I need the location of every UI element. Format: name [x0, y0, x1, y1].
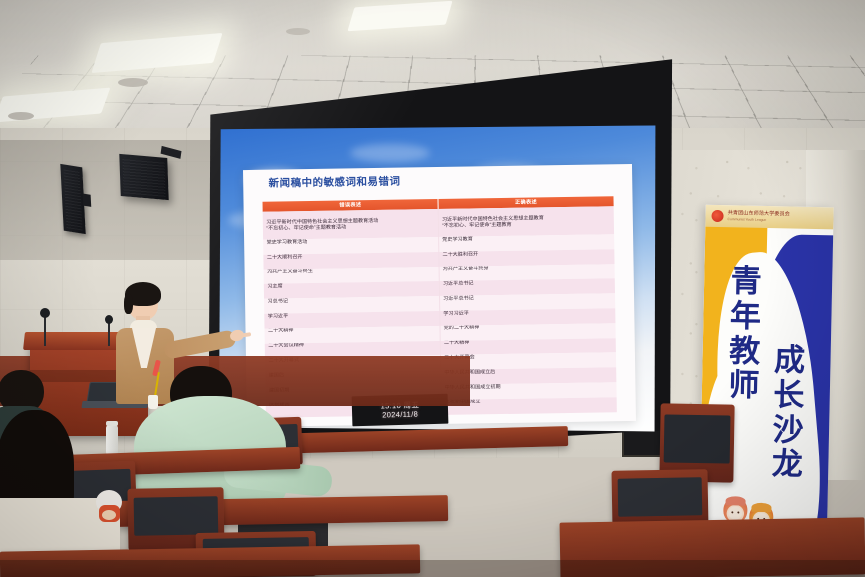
presenter-hair-side	[124, 294, 133, 314]
banner-char: 长	[773, 381, 805, 411]
slide-title: 新闻稿中的敏感词和易错词	[269, 173, 401, 190]
rollup-banner: 共青团山东师范大学委员会 Communist Youth League 青 年 …	[698, 205, 834, 568]
presenter-pointing-arm	[163, 329, 237, 359]
banner-char: 年	[730, 302, 762, 332]
mascot-face	[728, 506, 742, 519]
banner-char: 成	[774, 346, 806, 376]
clock-date: 2024/11/8	[382, 410, 418, 419]
ceiling-vent	[286, 28, 310, 35]
cell-correct: 习近平新时代中国特色社会主义思想主题教育 “不忘初心、牢记使命”主题教育	[439, 207, 614, 238]
mascot-eye	[737, 511, 739, 513]
banner-logo-subtext: Communist Youth League	[727, 217, 766, 222]
microphone-stand	[44, 316, 46, 346]
plush-toy	[96, 490, 122, 520]
banner-title-column-1: 青 年 教 师	[722, 267, 769, 402]
cell-wrong: 习近平新时代中国特色社会主义思想主题教育活动 “不忘初心、牢记使命”主题教育活动	[263, 209, 439, 240]
foreground-shadow	[0, 560, 865, 577]
mascot-hair	[725, 496, 745, 505]
banner-char: 龙	[772, 450, 804, 480]
banner-title-column-2: 成 长 沙 龙	[764, 346, 813, 481]
speaker-grille	[63, 167, 82, 230]
ceiling-vent	[8, 112, 34, 120]
wall-speaker-left	[60, 164, 85, 234]
ceiling-vent	[118, 78, 148, 87]
chair-seat	[617, 478, 702, 517]
cloud	[350, 144, 430, 162]
mascot-hair	[751, 503, 771, 512]
speaker-grille	[122, 157, 165, 197]
speaker-mount	[83, 194, 92, 207]
cell-line: “不忘初心、牢记使命”主题教育	[442, 221, 614, 229]
wall-speaker-right	[119, 154, 168, 200]
paper-cup	[148, 395, 158, 409]
toy-face	[102, 510, 116, 520]
microphone-head	[40, 308, 50, 318]
mascot-eye	[731, 511, 733, 513]
cell-line: “不忘初心、牢记使命”主题教育活动	[267, 224, 439, 232]
chair-seat	[664, 414, 730, 463]
left-wall-shadow	[0, 140, 215, 260]
banner-char: 青	[730, 267, 762, 297]
banner-char: 沙	[772, 416, 804, 446]
lecture-hall-screenshot: 新闻稿中的敏感词和易错词 错误表述 正确表述 习近平新时代中国特色社会主义思想主…	[0, 0, 865, 577]
chair-seat	[133, 496, 218, 536]
banner-char: 师	[728, 371, 760, 401]
banner-char: 教	[729, 337, 761, 367]
